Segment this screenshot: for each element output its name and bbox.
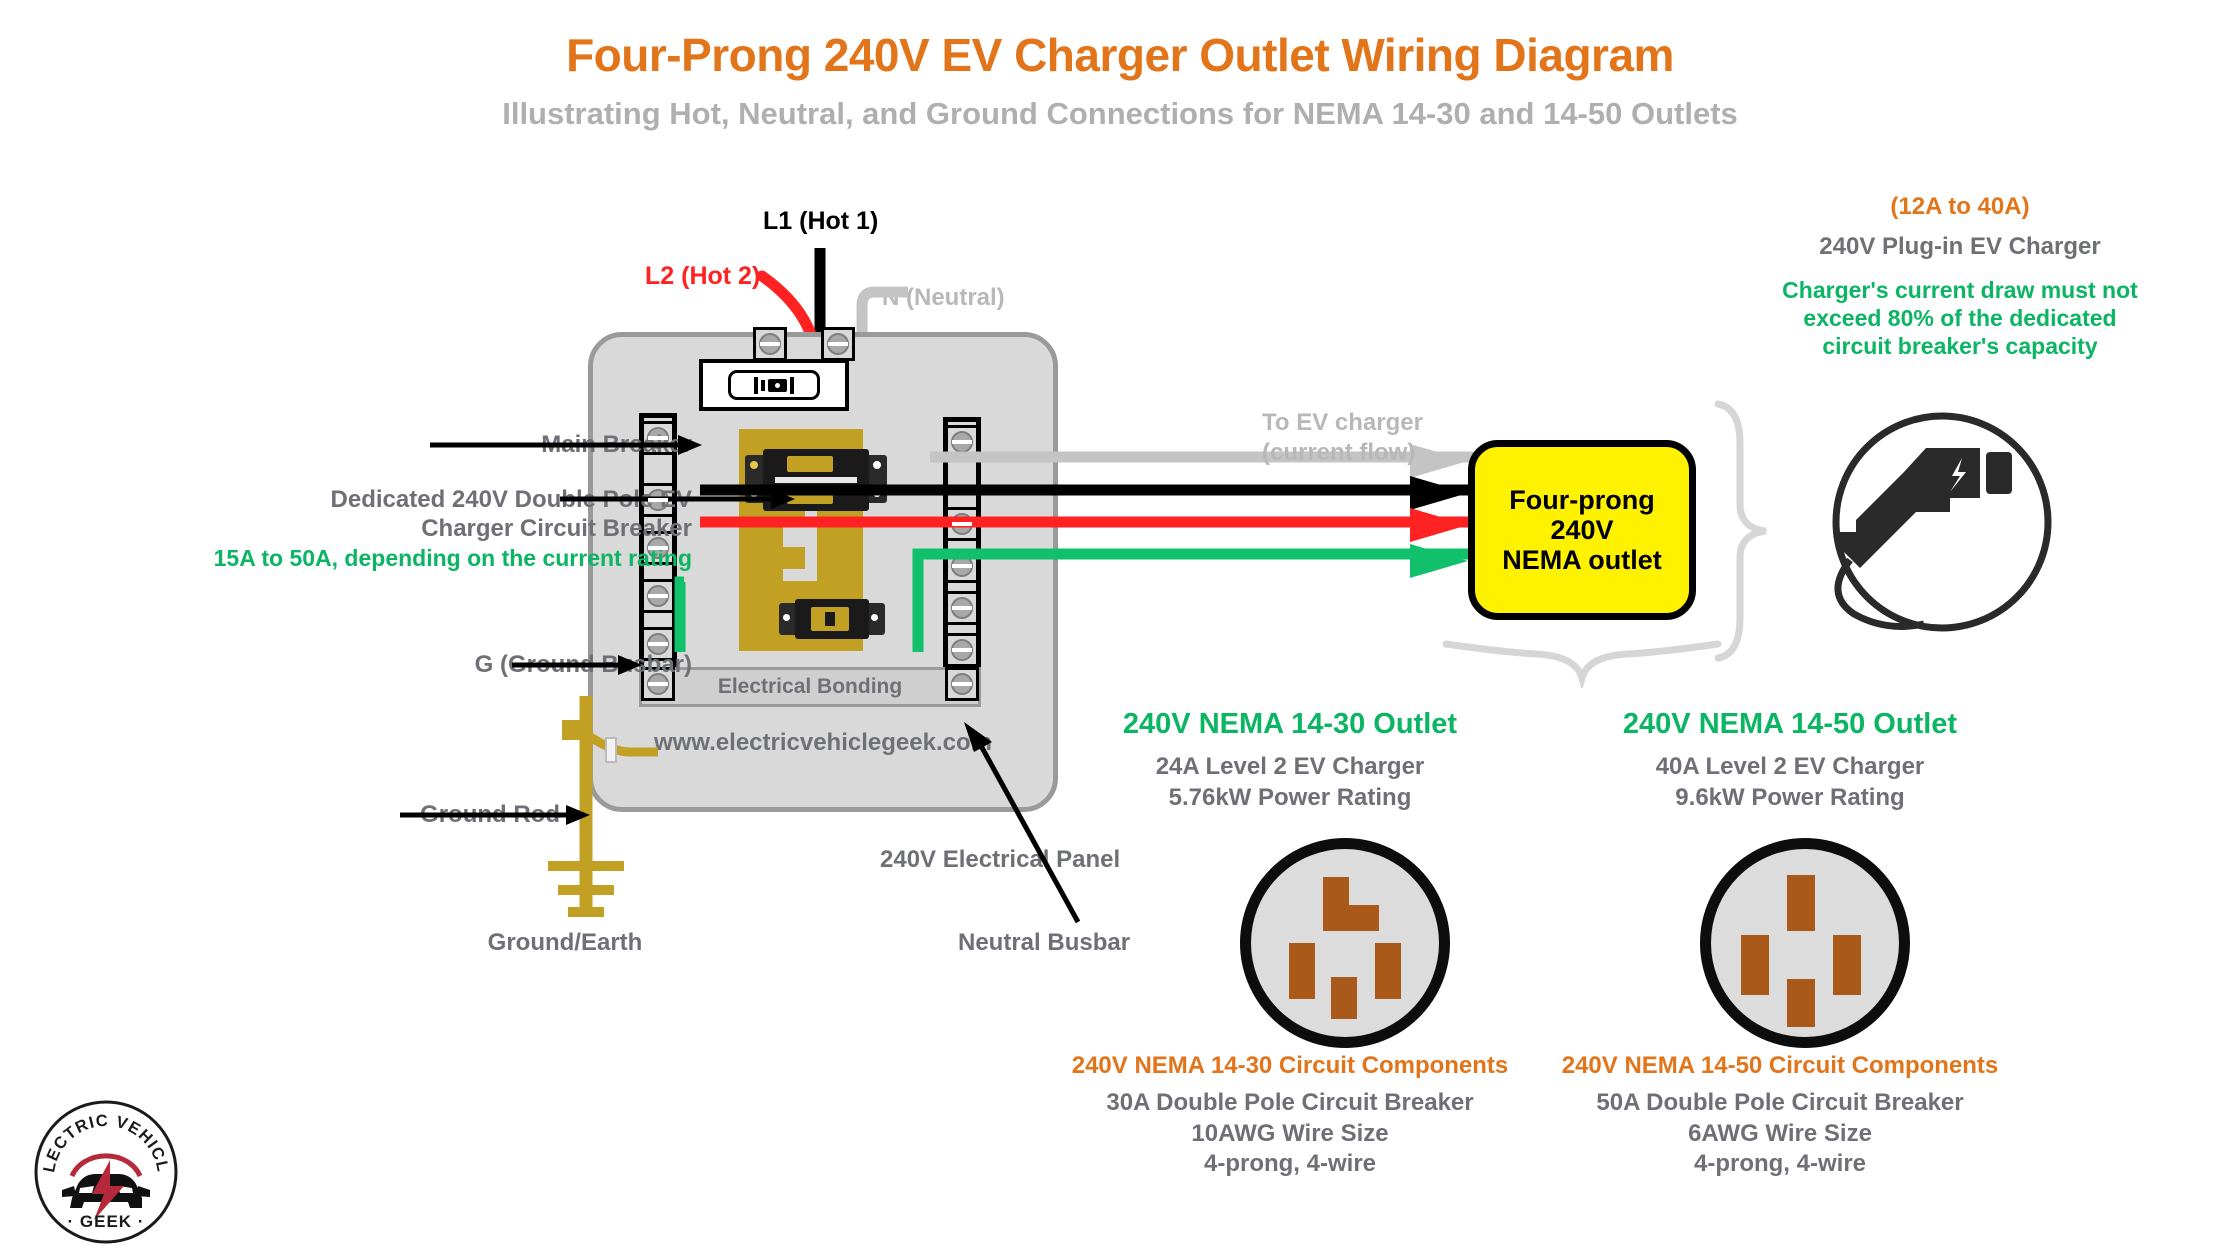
four-prong-nema-outlet-box[interactable]: Four-prong 240VNEMA outlet [1468,440,1696,620]
ev-charger-gun-icon [1830,380,2160,670]
arrowhead-ground [1410,544,1468,578]
charger-title: 240V Plug-in EV Charger [1690,232,2230,261]
slot-ground-1430 [1331,977,1357,1019]
outlet-1450-components-heading: 240V NEMA 14-50 Circuit Components [1540,1052,2020,1080]
arrowhead-l2 [1410,508,1468,542]
charger-note: Charger's current draw must not exceed 8… [1700,276,2220,360]
slot-hot1-1450 [1741,935,1769,995]
outlet-1450-components: 50A Double Pole Circuit Breaker 6AWG Wir… [1540,1088,2020,1180]
slot-neutral-1430-h [1323,905,1379,931]
title-text: Four-Prong 240V EV Charger Outlet Wiring… [566,29,1674,81]
leader-ground-rod [400,802,590,828]
outlet-1450-specs: 40A Level 2 EV Charger 9.6kW Power Ratin… [1560,752,2020,813]
page-subtitle: Illustrating Hot, Neutral, and Ground Co… [0,96,2240,132]
panel-caption: 240V Electrical Panel [880,845,1300,874]
outlet-1430-specs: 24A Level 2 EV Charger 5.76kW Power Rati… [1070,752,1510,813]
site-logo: ELECTRIC VEHICLE · GEEK · [32,1098,180,1246]
main-lug-screw-l1 [821,327,855,361]
charger-amp-range: (12A to 40A) [1690,192,2230,221]
leader-dedicated-breaker [560,486,795,512]
subtitle-text: Illustrating Hot, Neutral, and Ground Co… [502,96,1738,131]
bonding-label: Electrical Bonding [718,675,902,699]
conduit-sleeve [606,738,616,762]
outlet-1430-heading: 240V NEMA 14-30 Outlet [1070,708,1510,741]
slot-hot2-1430 [1375,943,1401,999]
slot-neutral-1450 [1787,875,1815,931]
brace-to-outlet-types [1440,630,1726,688]
slot-hot1-1430 [1289,943,1315,999]
slot-hot2-1450 [1833,935,1861,995]
ground-electrode-conductor [586,734,658,752]
neutral-busbar-screw [945,425,979,459]
outlet-1430-components-heading: 240V NEMA 14-30 Circuit Components [1060,1052,1520,1080]
main-lug-screw-l2 [753,327,787,361]
nema-14-30-outlet-face[interactable] [1240,838,1450,1048]
breaker-amp-note: 15A to 50A, depending on the current rat… [214,545,692,571]
neutral-busbar-screw [945,507,979,541]
page-title: Four-Prong 240V EV Charger Outlet Wiring… [0,28,2240,82]
neutral-busbar-screw [945,633,979,667]
callout-ground-earth: Ground/Earth [420,928,710,957]
nema-box-label: Four-prong 240VNEMA outlet [1475,485,1689,576]
neutral-busbar-screw [945,591,979,625]
leader-ground-busbar [512,652,642,678]
bonding-screw-right [945,667,979,701]
callout-neutral-busbar: Neutral Busbar [958,928,1258,957]
single-pole-breaker[interactable] [779,599,885,639]
ground-busbar-screw [641,579,675,613]
logo-bottom-text: · GEEK · [68,1212,145,1231]
nema-14-50-outlet-face[interactable] [1700,838,1910,1048]
neutral-busbar-screw [945,549,979,583]
brace-to-charger [1700,400,1820,662]
main-breaker-device[interactable] [699,359,849,411]
bus-strip-tooth [783,547,805,569]
outlet-1430-components: 30A Double Pole Circuit Breaker 10AWG Wi… [1060,1088,1520,1180]
slot-ground-1450 [1787,979,1815,1027]
outlet-1450-heading: 240V NEMA 14-50 Outlet [1560,708,2020,741]
arrowhead-l1 [1410,476,1468,510]
